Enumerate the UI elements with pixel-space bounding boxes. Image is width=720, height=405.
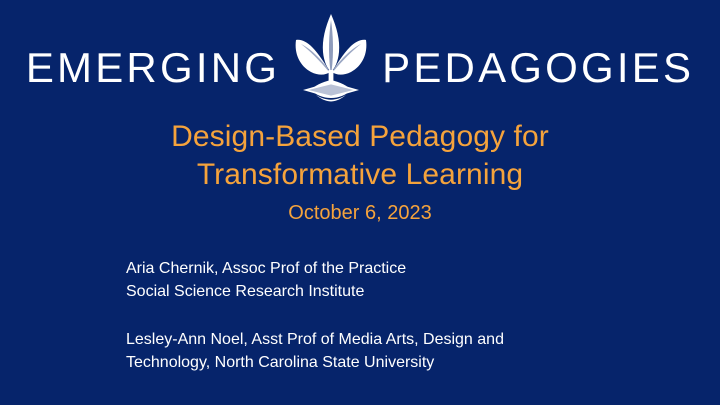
logo-wordmark-right: PEDAGOGIES (382, 47, 694, 89)
slide-date: October 6, 2023 (0, 201, 720, 226)
presenter-entry: Lesley-Ann Noel, Asst Prof of Media Arts… (126, 329, 646, 374)
presenter-entry: Aria Chernik, Assoc Prof of the Practice… (126, 258, 646, 303)
brand-logo-lockup: EMERGING PEDAGOGIES (0, 12, 720, 104)
sprout-graduation-cap-icon (292, 12, 370, 104)
presenter-list: Aria Chernik, Assoc Prof of the Practice… (126, 258, 646, 375)
presentation-slide: EMERGING PEDAGOGIES Design-Based Pedagog (0, 0, 720, 405)
logo-wordmark-left: EMERGING (26, 47, 280, 89)
title-block: Design-Based Pedagogy for Transformative… (0, 118, 720, 226)
slide-title: Design-Based Pedagogy for Transformative… (0, 118, 720, 195)
